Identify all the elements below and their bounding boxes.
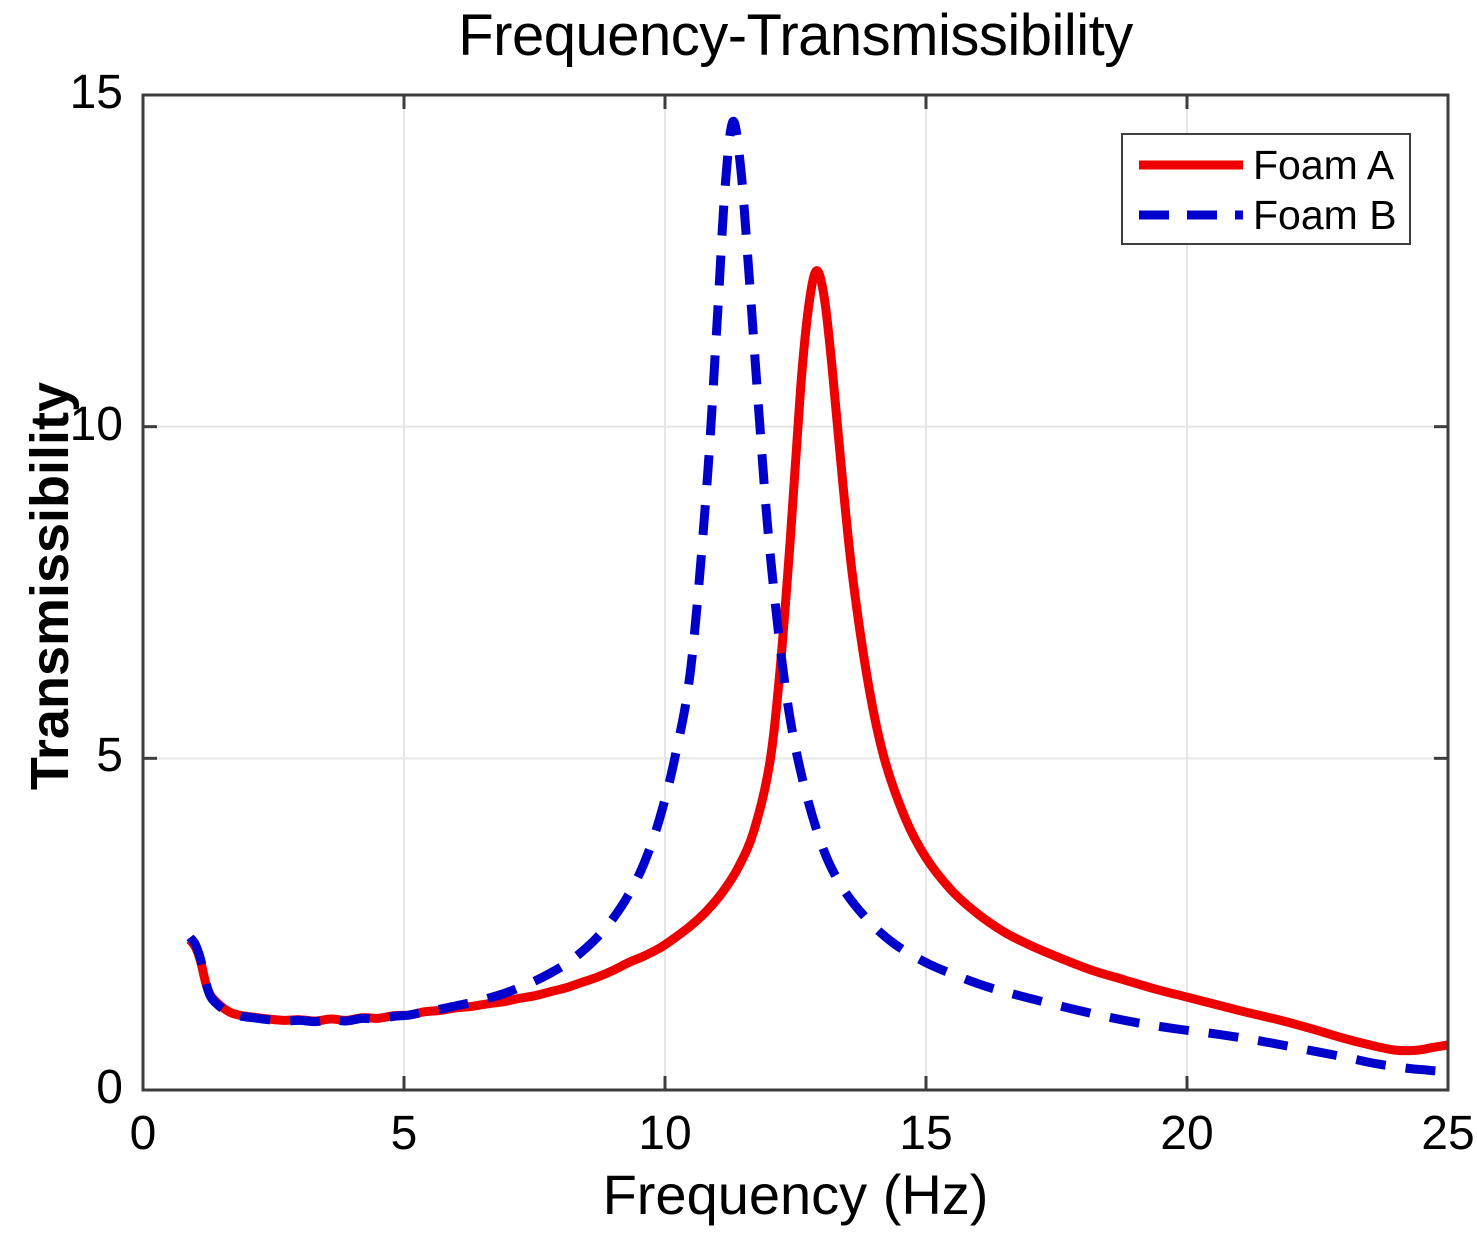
legend-swatch-foam-a xyxy=(1137,141,1245,189)
x-tick-15: 15 xyxy=(866,1106,986,1161)
series-lines xyxy=(190,121,1448,1072)
x-tick-25: 25 xyxy=(1388,1106,1477,1161)
y-tick-15: 15 xyxy=(3,65,123,120)
legend-label-foam-a: Foam A xyxy=(1253,142,1394,188)
x-axis-label: Frequency (Hz) xyxy=(143,1162,1448,1227)
series-line-foam-a xyxy=(190,271,1448,1051)
legend-item-foam-a[interactable]: Foam A xyxy=(1123,141,1409,189)
x-tick-0: 0 xyxy=(83,1106,203,1161)
y-tick-5: 5 xyxy=(3,728,123,783)
legend-item-foam-b[interactable]: Foam B xyxy=(1123,191,1409,239)
x-tick-5: 5 xyxy=(344,1106,464,1161)
legend-swatch-foam-b xyxy=(1137,191,1245,239)
x-tick-10: 10 xyxy=(605,1106,725,1161)
chart-legend[interactable]: Foam A Foam B xyxy=(1121,133,1411,245)
series-line-foam-b xyxy=(190,121,1448,1072)
x-tick-20: 20 xyxy=(1127,1106,1247,1161)
y-tick-10: 10 xyxy=(3,397,123,452)
chart-figure: Frequency-Transmissibility Transmissibil… xyxy=(0,0,1477,1240)
legend-label-foam-b: Foam B xyxy=(1253,192,1397,238)
